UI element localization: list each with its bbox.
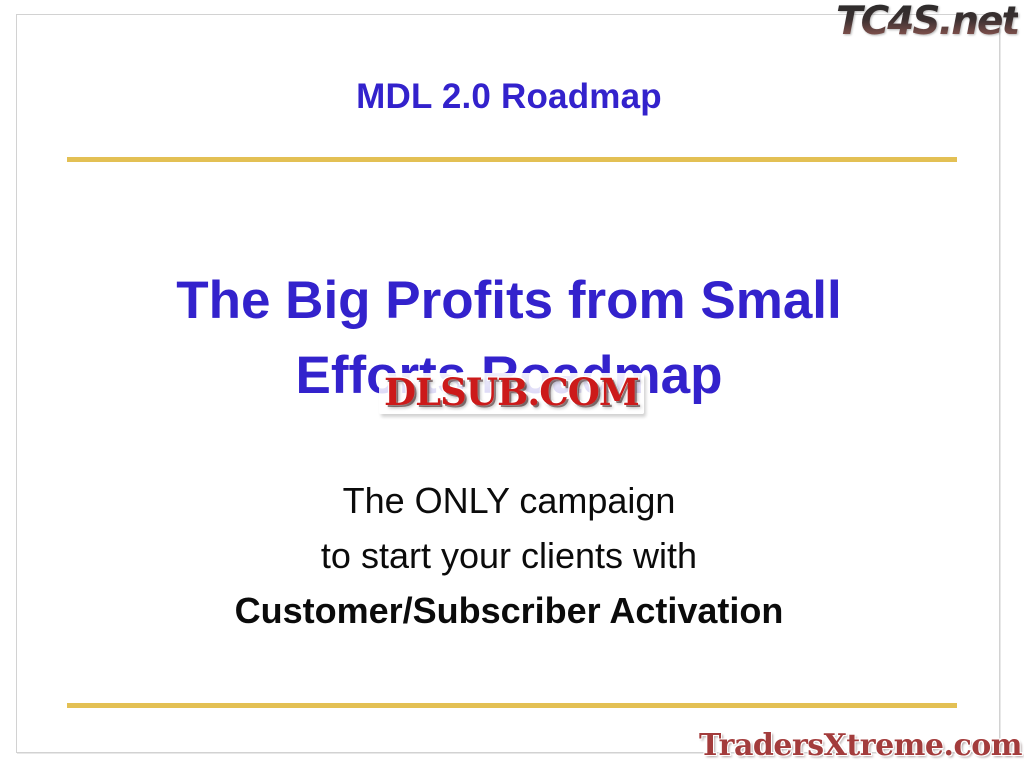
headline-line-1: The Big Profits from Small bbox=[17, 263, 1001, 338]
presentation-slide: MDL 2.0 Roadmap The Big Profits from Sma… bbox=[16, 14, 1000, 753]
body-line-3: Customer/Subscriber Activation bbox=[17, 583, 1001, 638]
divider-bottom bbox=[67, 703, 957, 708]
page-title: MDL 2.0 Roadmap bbox=[17, 77, 1001, 117]
tradersxtreme-logo: TradersXtreme.com bbox=[699, 729, 1022, 762]
body-text-block: The ONLY campaign to start your clients … bbox=[17, 473, 1001, 638]
body-line-1: The ONLY campaign bbox=[17, 473, 1001, 528]
dlsub-watermark: DLSUB.COM bbox=[379, 373, 644, 414]
divider-top bbox=[67, 157, 957, 162]
body-line-2: to start your clients with bbox=[17, 528, 1001, 583]
tc4s-logo: TC4S.net bbox=[836, 2, 1018, 43]
